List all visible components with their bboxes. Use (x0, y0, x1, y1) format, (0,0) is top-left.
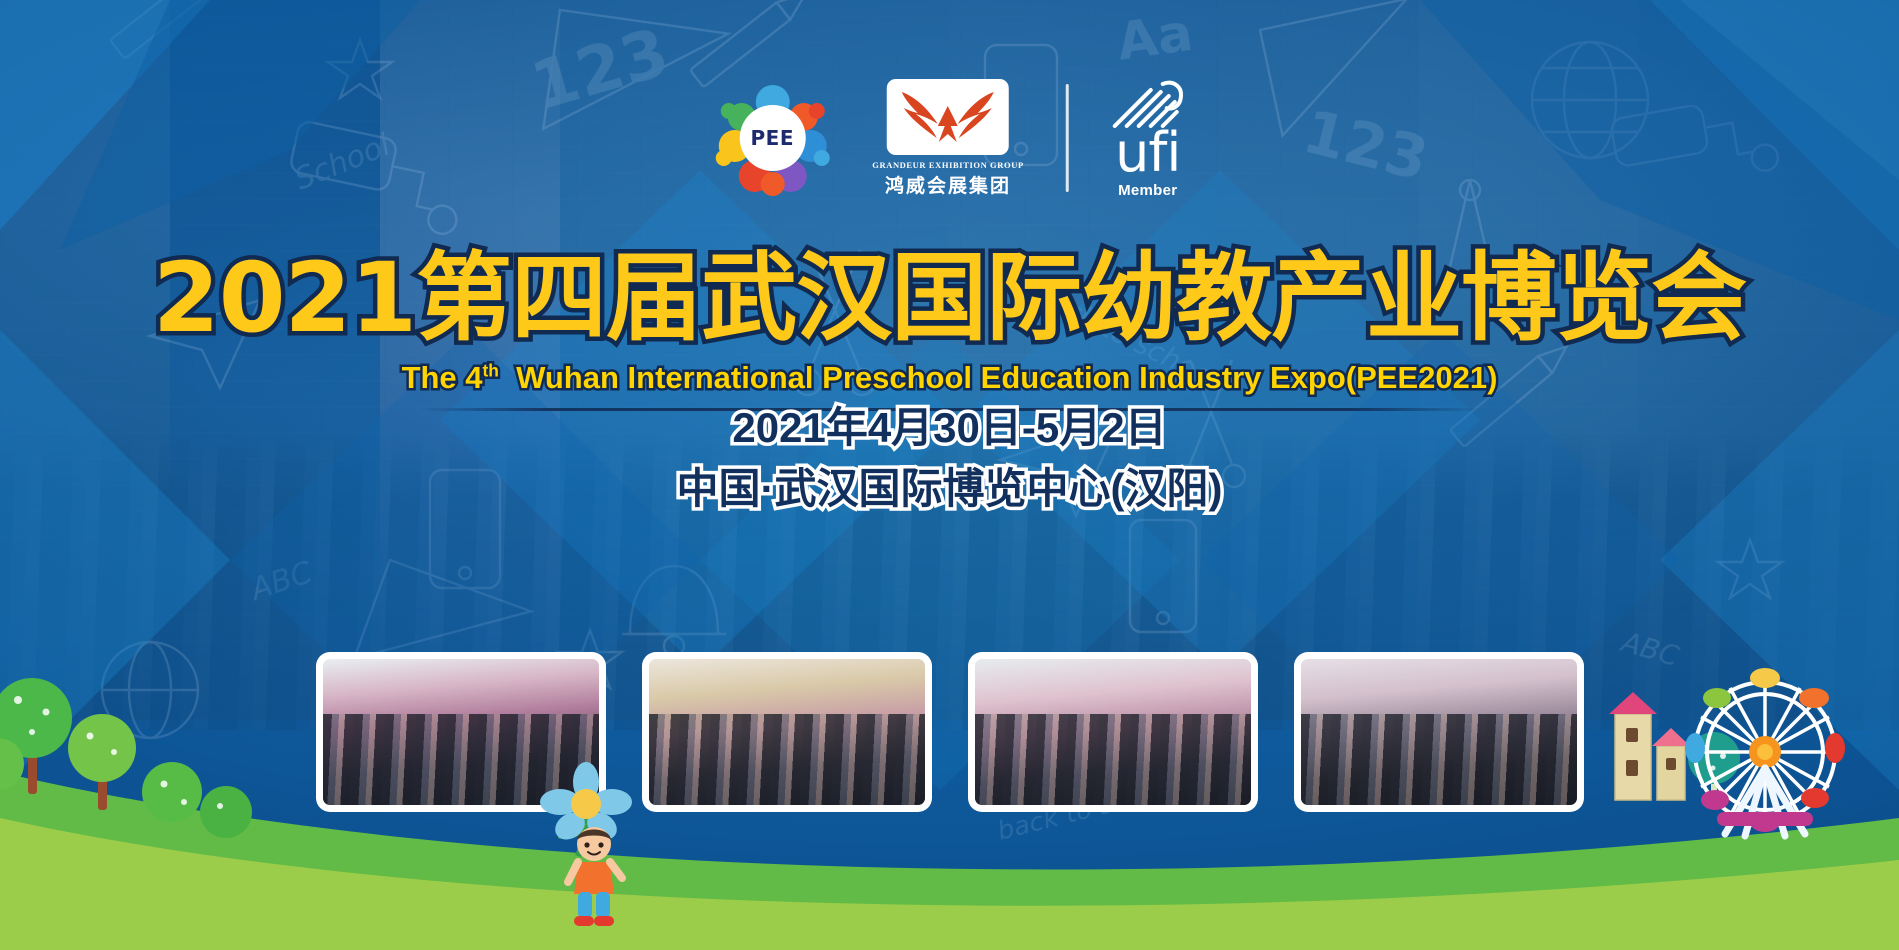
logo-divider (1066, 84, 1069, 192)
page-title-en-rest: Wuhan International Preschool Education … (516, 360, 1497, 395)
pee-logo-badge: PEE (739, 105, 805, 171)
cartoon-houses-illustration (1609, 692, 1690, 800)
page-title-en-ordinal: th (483, 360, 499, 380)
grandeur-chinese-name: 鸿威会展集团 (885, 171, 1011, 198)
pee-logo-text: PEE (751, 126, 794, 150)
headline-block: 2021第四届武汉国际幼教产业博览会 The 4th Wuhan Interna… (0, 248, 1899, 411)
event-date: 2021年4月30日-5月2日 (0, 398, 1899, 459)
ufi-member-label: Member (1118, 182, 1177, 199)
grandeur-english-name: GRANDEUR EXHIBITION GROUP (872, 160, 1024, 170)
expo-banner: 123 123 School Back to school ABC ABC ba… (0, 0, 1899, 950)
pee-logo: PEE (714, 80, 830, 196)
logo-row: PEE GRANDEUR EXHIBITION GROUP 鸿威会展集团 (714, 78, 1185, 199)
grandeur-logo-block: GRANDEUR EXHIBITION GROUP 鸿威会展集团 (872, 79, 1024, 198)
phoenix-wings-icon (894, 86, 1002, 148)
event-meta-block: 2021年4月30日-5月2日 中国·武汉国际博览中心(汉阳) (0, 398, 1899, 520)
cartoon-trees-illustration (0, 660, 264, 840)
page-title-cn: 2021第四届武汉国际幼教产业博览会 (153, 248, 1746, 350)
grandeur-logo-card (887, 79, 1009, 155)
ufi-logo-block: ufi Member (1111, 78, 1185, 199)
page-title-en-prefix: The 4 (402, 360, 483, 395)
ferris-wheel-illustration (1569, 636, 1899, 866)
page-title-en: The 4th Wuhan International Preschool Ed… (0, 360, 1899, 396)
ufi-wordmark: ufi (1115, 130, 1180, 176)
event-venue: 中国·武汉国际博览中心(汉阳) (0, 459, 1899, 520)
ferris-wheel-graphic (1685, 668, 1845, 836)
cartoon-kid-illustration (556, 824, 632, 932)
